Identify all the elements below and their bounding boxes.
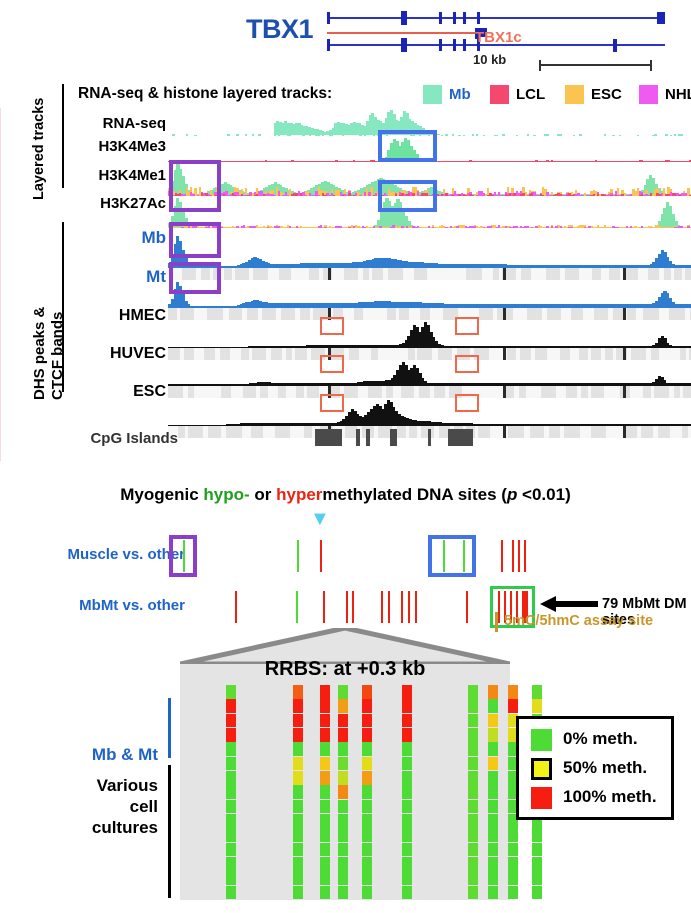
rrbs-cell bbox=[338, 814, 348, 828]
rrbs-cell bbox=[226, 742, 236, 756]
rrbs-cell bbox=[362, 857, 372, 871]
highlight-box-purple-dhs-mt bbox=[169, 262, 221, 294]
rrbs-cell bbox=[362, 886, 372, 900]
ctcf-band-segment bbox=[168, 386, 183, 398]
rrbs-cell bbox=[468, 699, 478, 713]
dm-tick-hyper bbox=[388, 591, 390, 623]
ctcf-band-segment bbox=[479, 308, 493, 320]
rrbs-cell bbox=[362, 742, 372, 756]
headline-hyper: hyper bbox=[276, 485, 322, 504]
dm-tick-hyper bbox=[415, 591, 417, 623]
ctcf-band-segment bbox=[507, 348, 517, 360]
rrbs-cell bbox=[226, 871, 236, 885]
ctcf-band-segment bbox=[188, 426, 203, 438]
cpg-island-block bbox=[366, 429, 370, 446]
track-bar bbox=[681, 226, 683, 228]
rrbs-cell bbox=[338, 742, 348, 756]
rrbs-cell bbox=[488, 828, 498, 842]
ctcf-band-segment bbox=[417, 348, 432, 360]
ctcf-band-segment bbox=[560, 348, 570, 360]
dm-tick-hypo bbox=[296, 591, 298, 623]
rrbs-cell bbox=[338, 771, 348, 785]
ctcf-band-segment bbox=[680, 348, 686, 360]
rrbs-cell bbox=[488, 871, 498, 885]
ctcf-strong-site bbox=[623, 308, 626, 320]
track-bar bbox=[571, 227, 573, 228]
dm-tick-hyper bbox=[320, 540, 322, 572]
ctcf-band-segment bbox=[262, 308, 276, 320]
ctcf-band-segment bbox=[591, 426, 607, 438]
ctcf-band-segment bbox=[344, 386, 358, 398]
track-bar bbox=[551, 226, 553, 228]
ctcf-strong-site bbox=[328, 268, 331, 280]
rrbs-title: RRBS: at +0.3 kb bbox=[180, 658, 510, 681]
rrbs-cell bbox=[362, 785, 372, 799]
rrbs-cell bbox=[320, 843, 330, 857]
side-label-dhs-peaks: DHS peaks & bbox=[31, 307, 48, 400]
track-bar bbox=[590, 226, 592, 228]
ctcf-band-segment bbox=[226, 426, 242, 438]
rrbs-column[interactable] bbox=[338, 685, 348, 900]
ctcf-strong-site bbox=[623, 426, 626, 438]
ctcf-band-segment bbox=[549, 426, 560, 438]
rrbs-cell bbox=[362, 814, 372, 828]
ctcf-band-segment bbox=[541, 386, 556, 398]
rrbs-cell bbox=[226, 828, 236, 842]
rrbs-cell bbox=[293, 742, 303, 756]
dm-tick-hyper bbox=[323, 591, 325, 623]
track-bar bbox=[221, 227, 223, 228]
rrbs-column[interactable] bbox=[488, 685, 498, 900]
track-bar bbox=[324, 227, 326, 228]
rrbs-cell bbox=[320, 685, 330, 699]
track-bar bbox=[687, 226, 689, 228]
meth-legend-label-0: 0% meth. bbox=[563, 729, 638, 749]
rrbs-cell bbox=[362, 828, 372, 842]
rrbs-cell bbox=[338, 757, 348, 771]
highlight-box-purple-muscle-dm bbox=[169, 535, 197, 577]
track-label-dhs-huvec: HUVEC bbox=[48, 345, 166, 363]
rrbs-cell bbox=[488, 728, 498, 742]
ctcf-band-segment bbox=[309, 268, 319, 280]
ctcf-band-segment bbox=[178, 426, 185, 438]
ctcf-band-segment bbox=[229, 308, 243, 320]
ctcf-band-segment bbox=[535, 348, 547, 360]
track-bar bbox=[531, 227, 533, 228]
ctcf-band-segment bbox=[354, 308, 364, 320]
rrbs-cell bbox=[338, 685, 348, 699]
highlight-box-orange-esc-2 bbox=[455, 394, 479, 412]
rrbs-cell bbox=[320, 828, 330, 842]
highlight-box-purple-layered bbox=[169, 160, 221, 212]
dm-tick-hyper bbox=[235, 591, 237, 623]
meth-legend-swatch-1 bbox=[531, 758, 552, 780]
meth-legend-swatch-2 bbox=[531, 787, 552, 809]
track-bar bbox=[417, 226, 419, 228]
track-dhs-mt[interactable] bbox=[168, 280, 691, 308]
ctcf-band-segment bbox=[388, 268, 403, 280]
rrbs-cell bbox=[293, 714, 303, 728]
rrbs-cell bbox=[508, 843, 518, 857]
ctcf-band-segment bbox=[565, 268, 579, 280]
legend-label-lcl: LCL bbox=[516, 86, 545, 103]
ctcf-band-segment bbox=[547, 308, 561, 320]
cpg-island-block bbox=[390, 429, 397, 446]
ctcf-band-segment bbox=[253, 268, 268, 280]
ctcf-band-segment bbox=[669, 308, 685, 320]
rrbs-column[interactable] bbox=[402, 685, 412, 900]
ctcf-strong-site bbox=[503, 386, 506, 398]
track-bar bbox=[406, 226, 408, 228]
ctcf-band-segment bbox=[304, 426, 313, 438]
rrbs-cell bbox=[293, 828, 303, 842]
rrbs-cell bbox=[320, 714, 330, 728]
ctcf-band-segment bbox=[235, 268, 248, 280]
ctcf-band-segment bbox=[519, 386, 526, 398]
track-bar bbox=[428, 226, 430, 228]
ctcf-band-segment bbox=[278, 386, 287, 398]
rrbs-cell bbox=[320, 871, 330, 885]
ctcf-band-segment bbox=[399, 308, 409, 320]
rrbs-cell bbox=[488, 800, 498, 814]
rrbs-cell bbox=[320, 742, 330, 756]
legend-label-esc: ESC bbox=[591, 86, 622, 103]
ctcf-band-segment bbox=[368, 386, 382, 398]
track-label-dhs-mb: Mb bbox=[48, 228, 166, 248]
track-bar bbox=[498, 225, 500, 228]
track-left-boundary bbox=[0, 108, 1, 461]
ctcf-band-hmec[interactable] bbox=[168, 348, 691, 360]
dm-tick-hyper bbox=[501, 540, 503, 572]
headline-p-italic: p bbox=[507, 485, 517, 504]
rrbs-cell bbox=[468, 742, 478, 756]
ctcf-band-segment bbox=[674, 268, 682, 280]
ctcf-band-segment bbox=[188, 386, 194, 398]
track-bar bbox=[320, 225, 322, 228]
rrbs-cell bbox=[362, 685, 372, 699]
rrbs-cell bbox=[320, 771, 330, 785]
track-bar bbox=[560, 226, 562, 228]
rrbs-cell bbox=[488, 771, 498, 785]
rrbs-cell bbox=[488, 699, 498, 713]
rrbs-cell bbox=[338, 871, 348, 885]
track-bar bbox=[641, 226, 643, 228]
rrbs-cell bbox=[293, 785, 303, 799]
rrbs-cell bbox=[402, 785, 412, 799]
track-bar bbox=[392, 225, 394, 228]
highlight-box-blue-muscle-dm bbox=[428, 535, 476, 577]
dm-tick-hyper bbox=[512, 540, 514, 572]
ctcf-band-segment bbox=[300, 308, 309, 320]
track-bar bbox=[634, 226, 636, 228]
rrbs-cell bbox=[402, 886, 412, 900]
ctcf-band-segment bbox=[419, 386, 430, 398]
dm-tick-hyper bbox=[401, 591, 403, 623]
dm-tick-hyper bbox=[524, 540, 526, 572]
ctcf-band-segment bbox=[207, 308, 223, 320]
rrbs-heatmap[interactable] bbox=[180, 685, 510, 900]
track-bar bbox=[364, 227, 366, 228]
highlight-box-orange-huvec bbox=[320, 355, 344, 373]
track-bar bbox=[348, 227, 350, 229]
assay-site-note: 5mC/5hmC assay site bbox=[504, 613, 653, 629]
ctcf-strong-site bbox=[503, 426, 506, 438]
track-dhs-mb[interactable] bbox=[168, 234, 691, 268]
rrbs-cell bbox=[320, 800, 330, 814]
ctcf-band-segment bbox=[168, 308, 177, 320]
rrbs-panel[interactable]: RRBS: at +0.3 kb bbox=[180, 630, 510, 900]
ctcf-band-segment bbox=[493, 268, 500, 280]
ctcf-band-segment bbox=[520, 348, 531, 360]
rrbs-cell bbox=[320, 699, 330, 713]
rrbs-cell bbox=[402, 828, 412, 842]
legend-label-mb: Mb bbox=[449, 86, 471, 103]
ctcf-band-segment bbox=[508, 426, 524, 438]
ctcf-band-segment bbox=[521, 268, 531, 280]
rrbs-cell bbox=[320, 785, 330, 799]
dm-tick-hyper bbox=[346, 591, 348, 623]
rrbs-cell bbox=[320, 757, 330, 771]
track-bar bbox=[505, 226, 507, 228]
dm-tick-hyper bbox=[352, 591, 354, 623]
rrbs-cell bbox=[226, 771, 236, 785]
rrbs-cell bbox=[293, 857, 303, 871]
ctcf-band-mt[interactable] bbox=[168, 308, 691, 320]
rrbs-cell bbox=[362, 800, 372, 814]
rrbs-cell bbox=[402, 714, 412, 728]
rrbs-cell bbox=[508, 699, 518, 713]
ctcf-band-segment bbox=[271, 348, 282, 360]
ctcf-band-segment bbox=[643, 308, 659, 320]
ctcf-band-segment bbox=[581, 386, 588, 398]
track-bar bbox=[373, 226, 375, 228]
ctcf-band-segment bbox=[275, 426, 290, 438]
rrbs-cell bbox=[338, 699, 348, 713]
ctcf-band-segment bbox=[625, 426, 636, 438]
ctcf-band-segment bbox=[664, 268, 671, 280]
ctcf-band-segment bbox=[251, 426, 263, 438]
ctcf-band-segment bbox=[168, 348, 180, 360]
ctcf-band-segment bbox=[281, 308, 295, 320]
rrbs-cell bbox=[468, 843, 478, 857]
rrbs-cell bbox=[402, 742, 412, 756]
meth-legend-swatch-0 bbox=[531, 729, 552, 751]
rrbs-cell bbox=[362, 771, 372, 785]
rrbs-cell bbox=[402, 843, 412, 857]
track-bar bbox=[555, 226, 557, 228]
ctcf-band-segment bbox=[387, 308, 396, 320]
dm-row-label-mbmt: MbMt vs. other bbox=[10, 597, 185, 614]
track-bar bbox=[267, 227, 269, 229]
track-bar bbox=[540, 226, 542, 228]
track-bar bbox=[564, 226, 566, 228]
track-bar bbox=[419, 227, 421, 228]
ctcf-band-segment bbox=[372, 268, 383, 280]
meth-legend-label-2: 100% meth. bbox=[563, 787, 657, 807]
rrbs-cell bbox=[293, 871, 303, 885]
rrbs-cell bbox=[338, 857, 348, 871]
ctcf-band-segment bbox=[654, 386, 669, 398]
ctcf-band-segment bbox=[252, 348, 266, 360]
ctcf-band-segment bbox=[184, 348, 194, 360]
rrbs-cell bbox=[362, 714, 372, 728]
rrbs-cell bbox=[338, 828, 348, 842]
rrbs-column[interactable] bbox=[320, 685, 330, 900]
track-label-dhs-esc: ESC bbox=[48, 383, 166, 401]
ctcf-band-segment bbox=[279, 268, 291, 280]
track-dhs-hmec[interactable] bbox=[168, 320, 691, 348]
side-label-layered-tracks: Layered tracks bbox=[31, 98, 47, 200]
rrbs-cell bbox=[532, 828, 542, 842]
rrbs-cell bbox=[293, 771, 303, 785]
track-bar bbox=[630, 226, 632, 228]
highlight-box-blue-h3k4me3 bbox=[378, 130, 437, 162]
rrbs-cell bbox=[293, 886, 303, 900]
scale-bar bbox=[539, 60, 652, 70]
track-bar bbox=[357, 226, 359, 228]
meth-legend-label-1: 50% meth. bbox=[563, 758, 647, 778]
ctcf-band-segment bbox=[530, 426, 544, 438]
ctcf-band-segment bbox=[397, 426, 406, 438]
rrbs-cell bbox=[508, 871, 518, 885]
ctcf-band-segment bbox=[247, 308, 258, 320]
ctcf-band-segment bbox=[414, 268, 427, 280]
headline-part2: or bbox=[250, 485, 276, 504]
rrbs-cell bbox=[402, 728, 412, 742]
ctcf-band-segment bbox=[260, 386, 268, 398]
ctcf-band-segment bbox=[605, 348, 614, 360]
track-label-dhs-mt: Mt bbox=[48, 267, 166, 287]
track-bar bbox=[384, 227, 386, 229]
ctcf-band-segment bbox=[631, 348, 646, 360]
track-bar bbox=[588, 226, 590, 228]
track-bar bbox=[289, 226, 291, 228]
ctcf-band-segment bbox=[401, 386, 414, 398]
rrbs-column[interactable] bbox=[468, 685, 478, 900]
rrbs-cell bbox=[468, 771, 478, 785]
cpg-islands-label: CpG Islands bbox=[60, 430, 178, 447]
track-bar bbox=[489, 226, 491, 228]
rrbs-cell bbox=[468, 714, 478, 728]
gene-name-label: TBX1 bbox=[246, 14, 313, 45]
ctcf-band-huvec[interactable] bbox=[168, 386, 691, 398]
rrbs-cell bbox=[532, 871, 542, 885]
rrbs-cell bbox=[226, 757, 236, 771]
ctcf-band-segment bbox=[241, 348, 249, 360]
rrbs-cell bbox=[293, 699, 303, 713]
rrbs-cell bbox=[508, 857, 518, 871]
track-bar bbox=[456, 226, 458, 229]
rrbs-cell bbox=[402, 699, 412, 713]
rrbs-column[interactable] bbox=[293, 685, 303, 900]
rrbs-cell bbox=[468, 814, 478, 828]
rrbs-cell bbox=[488, 843, 498, 857]
rrbs-column[interactable] bbox=[226, 685, 236, 900]
rrbs-cell bbox=[362, 843, 372, 857]
ctcf-band-mb[interactable] bbox=[168, 268, 691, 280]
rrbs-cell bbox=[293, 843, 303, 857]
ctcf-band-segment bbox=[286, 348, 293, 360]
rrbs-cell bbox=[293, 800, 303, 814]
ctcf-band-segment bbox=[546, 268, 561, 280]
methylation-legend: 0% meth. 50% meth. 100% meth. bbox=[516, 716, 674, 820]
rrbs-cell bbox=[402, 771, 412, 785]
rrbs-cell bbox=[320, 886, 330, 900]
track-bar bbox=[527, 226, 529, 228]
rrbs-cell bbox=[468, 757, 478, 771]
track-label-h3k27ac: H3K27Ac bbox=[48, 195, 166, 212]
rrbs-cell bbox=[293, 757, 303, 771]
rrbs-cell bbox=[226, 800, 236, 814]
track-bar bbox=[296, 226, 298, 228]
track-label-h3k4me1: H3K4Me1 bbox=[48, 167, 166, 184]
rrbs-cell bbox=[402, 857, 412, 871]
track-bar bbox=[483, 227, 485, 228]
layered-legend-title: RNA-seq & histone layered tracks: bbox=[78, 85, 332, 103]
track-bar bbox=[300, 226, 302, 228]
highlight-box-blue-h3k27ac bbox=[378, 180, 437, 212]
track-bar bbox=[546, 226, 548, 228]
track-bar bbox=[450, 226, 452, 228]
rrbs-cell bbox=[362, 699, 372, 713]
rrbs-cell bbox=[488, 785, 498, 799]
track-label-h3k4me3: H3K4Me3 bbox=[48, 138, 166, 155]
rrbs-cell bbox=[488, 742, 498, 756]
headline-part1: Myogenic bbox=[120, 485, 203, 504]
ctcf-band-segment bbox=[224, 268, 232, 280]
rrbs-cell bbox=[226, 699, 236, 713]
rrbs-cell bbox=[468, 800, 478, 814]
rrbs-cell bbox=[293, 728, 303, 742]
track-bar bbox=[254, 226, 256, 228]
dm-tick-hypo bbox=[297, 540, 299, 572]
ctcf-band-segment bbox=[682, 426, 688, 438]
ctcf-band-segment bbox=[641, 426, 653, 438]
rrbs-cell bbox=[320, 814, 330, 828]
cpg-island-block bbox=[448, 429, 473, 446]
track-bar bbox=[535, 226, 537, 228]
track-bar bbox=[291, 227, 293, 228]
rrbs-cell bbox=[362, 871, 372, 885]
track-dhs-huvec[interactable] bbox=[168, 360, 691, 386]
ctcf-band-segment bbox=[221, 386, 231, 398]
track-dhs-esc[interactable] bbox=[168, 398, 691, 426]
rrbs-cell bbox=[402, 800, 412, 814]
ctcf-band-segment bbox=[658, 426, 671, 438]
rrbs-cell bbox=[508, 685, 518, 699]
dm-tick-hyper bbox=[466, 591, 468, 623]
rrbs-cell bbox=[362, 757, 372, 771]
ctcf-band-segment bbox=[674, 386, 681, 398]
track-bar bbox=[401, 226, 403, 228]
track-bar bbox=[329, 226, 331, 228]
ctcf-band-segment bbox=[296, 386, 304, 398]
track-bar bbox=[683, 227, 685, 228]
ctcf-band-segment bbox=[180, 308, 194, 320]
track-bar bbox=[243, 225, 245, 228]
highlight-box-purple-dhs-mb bbox=[169, 222, 221, 258]
scale-bar-label: 10 kb bbox=[473, 52, 506, 67]
track-bar bbox=[474, 226, 476, 228]
ctcf-band-segment bbox=[591, 386, 604, 398]
track-bar bbox=[476, 226, 478, 228]
cpg-island-block bbox=[428, 429, 431, 446]
rrbs-cell bbox=[338, 886, 348, 900]
rrbs-column[interactable] bbox=[362, 685, 372, 900]
rrbs-cell bbox=[468, 828, 478, 842]
rrbs-cell bbox=[468, 785, 478, 799]
rrbs-cell bbox=[532, 685, 542, 699]
